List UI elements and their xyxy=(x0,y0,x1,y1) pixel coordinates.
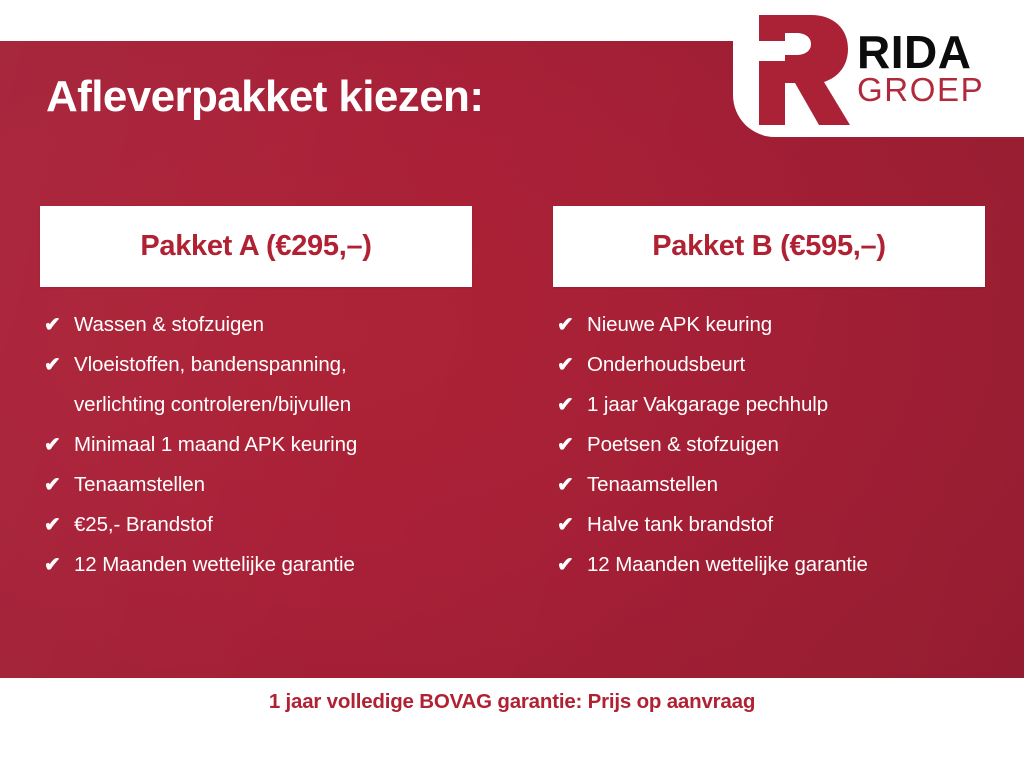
feature-label: Wassen & stofzuigen xyxy=(74,305,264,345)
checkmark-icon: ✔ xyxy=(44,505,74,545)
brand-name-primary: RIDA xyxy=(857,31,984,73)
package-column-a: Pakket A (€295,–) ✔ Wassen & stofzuigen … xyxy=(40,206,472,585)
feature-label: 12 Maanden wettelijke garantie xyxy=(587,545,868,585)
list-item: ✔ Wassen & stofzuigen xyxy=(44,305,472,345)
list-item: ✔ 12 Maanden wettelijke garantie xyxy=(44,545,472,585)
feature-label: Onderhoudsbeurt xyxy=(587,345,745,385)
brand-name-secondary: GROEP xyxy=(857,75,984,105)
checkmark-icon: ✔ xyxy=(557,545,587,585)
list-item: ✔ Tenaamstellen xyxy=(557,465,985,505)
checkmark-icon: ✔ xyxy=(557,425,587,465)
package-a-title: Pakket A (€295,–) xyxy=(140,230,371,263)
list-item: ✔ €25,- Brandstof xyxy=(44,505,472,545)
checkmark-icon: ✔ xyxy=(44,345,74,385)
list-item: ✔ Nieuwe APK keuring xyxy=(557,305,985,345)
package-b-header-card[interactable]: Pakket B (€595,–) xyxy=(553,206,985,287)
feature-label: Poetsen & stofzuigen xyxy=(587,425,779,465)
checkmark-icon: ✔ xyxy=(557,305,587,345)
feature-label: Tenaamstellen xyxy=(74,465,205,505)
checkmark-icon: ✔ xyxy=(557,505,587,545)
package-b-feature-list: ✔ Nieuwe APK keuring ✔ Onderhoudsbeurt ✔… xyxy=(553,287,985,585)
checkmark-icon: ✔ xyxy=(557,385,587,425)
list-item: ✔ Minimaal 1 maand APK keuring xyxy=(44,425,472,465)
feature-label: 1 jaar Vakgarage pechhulp xyxy=(587,385,828,425)
feature-label: Minimaal 1 maand APK keuring xyxy=(74,425,357,465)
checkmark-icon: ✔ xyxy=(557,345,587,385)
list-item: ✔ Poetsen & stofzuigen xyxy=(557,425,985,465)
feature-label: 12 Maanden wettelijke garantie xyxy=(74,545,355,585)
feature-label: Halve tank brandstof xyxy=(587,505,773,545)
brand-logo-panel: RIDA GROEP xyxy=(733,0,1024,137)
footer-band: 1 jaar volledige BOVAG garantie: Prijs o… xyxy=(0,678,1024,768)
feature-label: Vloeistoffen, bandenspanning, verlichtin… xyxy=(74,345,351,425)
footer-note: 1 jaar volledige BOVAG garantie: Prijs o… xyxy=(269,690,755,714)
package-b-title: Pakket B (€595,–) xyxy=(652,230,886,263)
feature-label: Nieuwe APK keuring xyxy=(587,305,772,345)
rida-r-monogram-icon xyxy=(749,11,853,129)
slide-root: Afleverpakket kiezen: RIDA GROEP Pakket … xyxy=(0,0,1024,768)
list-item: ✔ Onderhoudsbeurt xyxy=(557,345,985,385)
checkmark-icon: ✔ xyxy=(44,305,74,345)
feature-label: Tenaamstellen xyxy=(587,465,718,505)
list-item: ✔ Vloeistoffen, bandenspanning, verlicht… xyxy=(44,345,472,425)
list-item: ✔ 1 jaar Vakgarage pechhulp xyxy=(557,385,985,425)
checkmark-icon: ✔ xyxy=(44,545,74,585)
checkmark-icon: ✔ xyxy=(557,465,587,505)
checkmark-icon: ✔ xyxy=(44,425,74,465)
page-title: Afleverpakket kiezen: xyxy=(46,72,483,122)
package-column-b: Pakket B (€595,–) ✔ Nieuwe APK keuring ✔… xyxy=(553,206,985,585)
package-a-header-card[interactable]: Pakket A (€295,–) xyxy=(40,206,472,287)
package-a-feature-list: ✔ Wassen & stofzuigen ✔ Vloeistoffen, ba… xyxy=(40,287,472,585)
list-item: ✔ Halve tank brandstof xyxy=(557,505,985,545)
brand-wordmark: RIDA GROEP xyxy=(857,31,984,106)
feature-label: €25,- Brandstof xyxy=(74,505,213,545)
checkmark-icon: ✔ xyxy=(44,465,74,505)
list-item: ✔ 12 Maanden wettelijke garantie xyxy=(557,545,985,585)
list-item: ✔ Tenaamstellen xyxy=(44,465,472,505)
